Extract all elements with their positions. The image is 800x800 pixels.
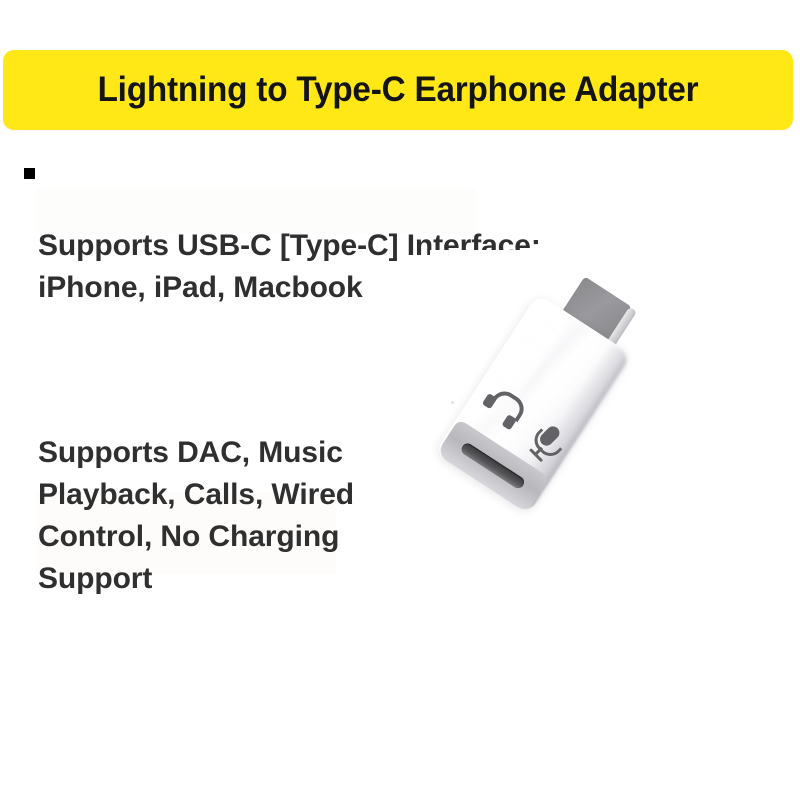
bullet-square-marker xyxy=(24,168,35,179)
photo-dust-speck xyxy=(451,401,454,404)
title-banner: Lightning to Type-C Earphone Adapter xyxy=(3,50,793,130)
page-title: Lightning to Type-C Earphone Adapter xyxy=(23,70,774,110)
product-image-backdrop xyxy=(430,250,760,580)
feature-text-functions: Supports DAC, Music Playback, Calls, Wir… xyxy=(38,432,438,600)
product-marketing-page: Lightning to Type-C Earphone Adapter Sup… xyxy=(0,0,800,800)
adapter-assembly xyxy=(434,260,653,514)
product-image xyxy=(430,250,760,580)
